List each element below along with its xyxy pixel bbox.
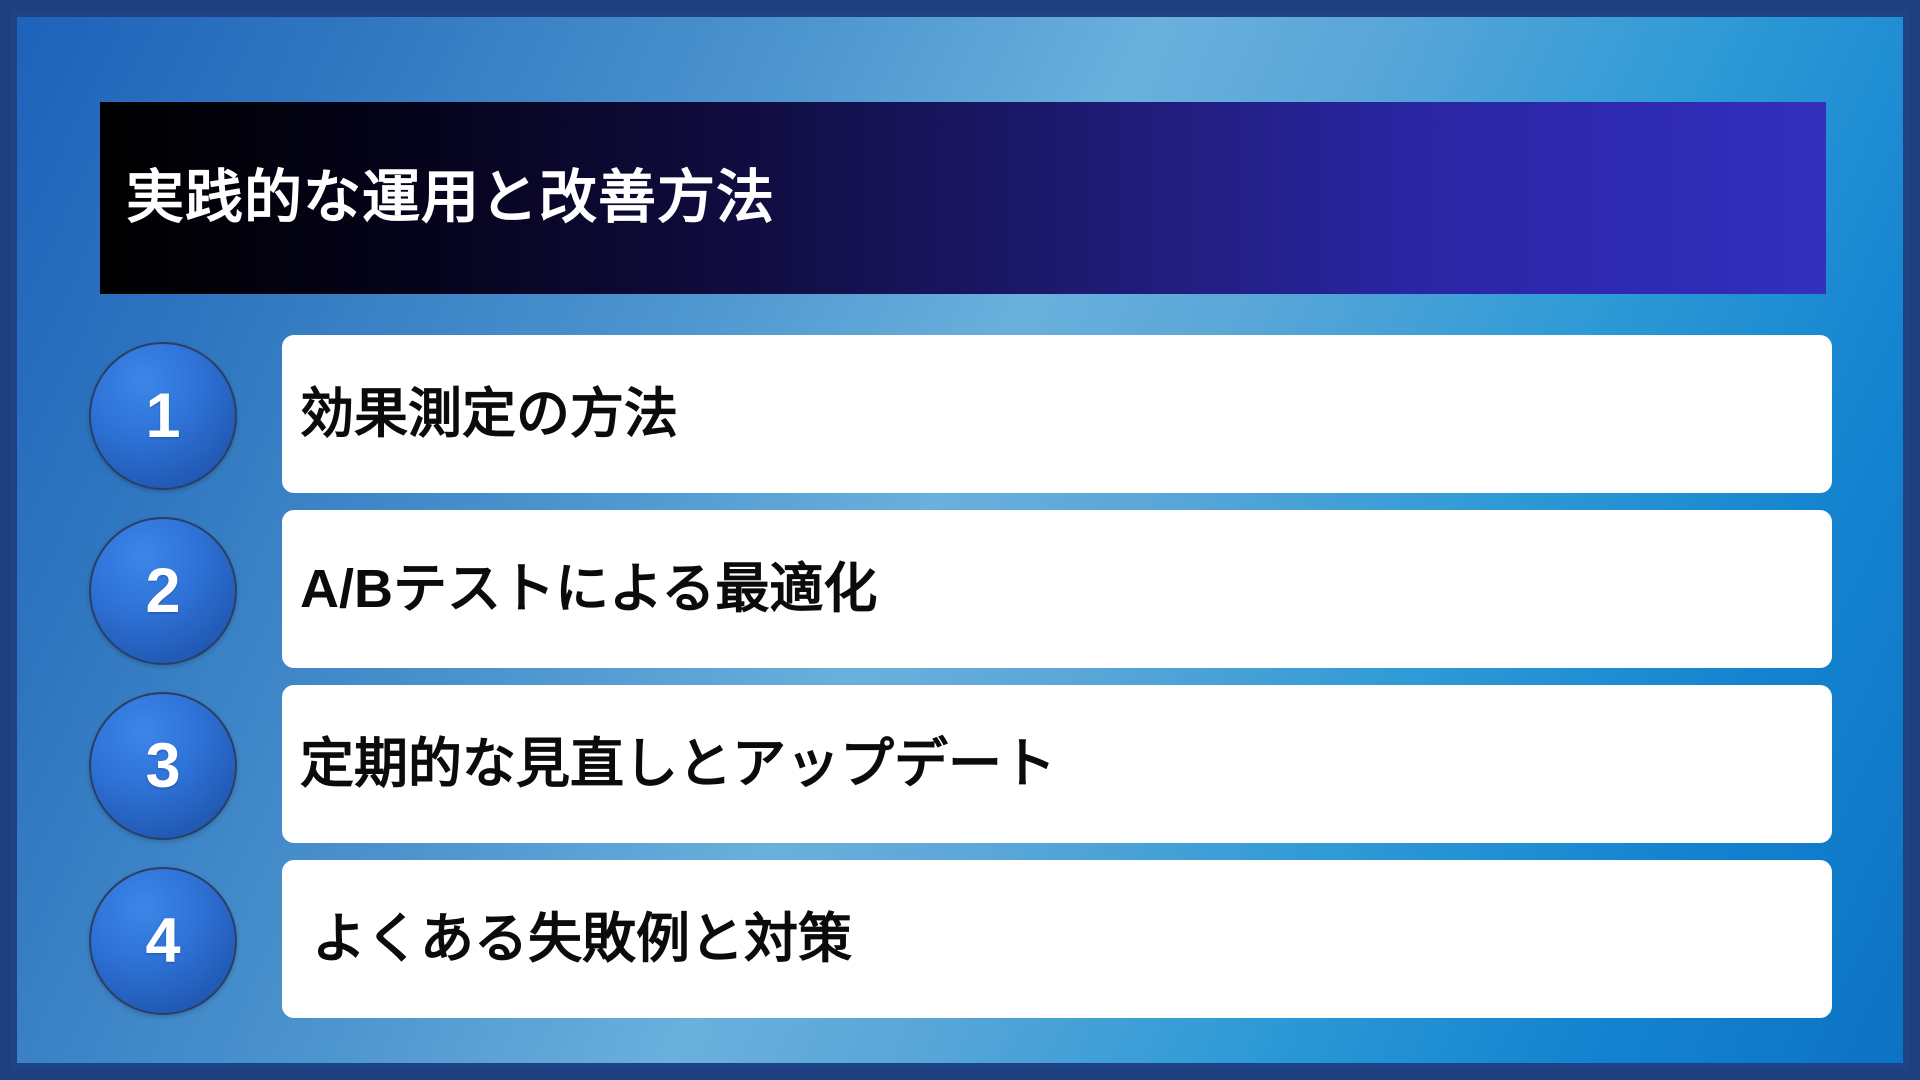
item-card[interactable]: よくある失敗例と対策: [282, 860, 1832, 1018]
item-number-badge: 2: [89, 517, 237, 665]
item-card-label: よくある失敗例と対策: [282, 908, 852, 970]
item-number-badge: 3: [89, 692, 237, 840]
page-title: 実践的な運用と改善方法: [100, 166, 775, 230]
item-card-label: 効果測定の方法: [282, 383, 678, 445]
list-item[interactable]: 1 効果測定の方法: [17, 335, 1910, 508]
item-number-label: 3: [145, 735, 180, 798]
item-card-label: 定期的な見直しとアップデート: [282, 733, 1056, 795]
item-card[interactable]: 効果測定の方法: [282, 335, 1832, 493]
list-item[interactable]: 2 A/Bテストによる最適化: [17, 510, 1910, 683]
slide-title-bar: 実践的な運用と改善方法: [100, 102, 1826, 294]
list-item[interactable]: 3 定期的な見直しとアップデート: [17, 685, 1910, 858]
slide-root: 実践的な運用と改善方法 1 効果測定の方法 2 A/Bテストによる最適化: [0, 0, 1920, 1080]
item-number-badge: 4: [89, 867, 237, 1015]
slide-frame: 実践的な運用と改善方法 1 効果測定の方法 2 A/Bテストによる最適化: [10, 10, 1910, 1070]
item-number-badge: 1: [89, 342, 237, 490]
item-card[interactable]: 定期的な見直しとアップデート: [282, 685, 1832, 843]
item-card-label: A/Bテストによる最適化: [282, 558, 877, 620]
item-card[interactable]: A/Bテストによる最適化: [282, 510, 1832, 668]
item-number-label: 1: [145, 385, 180, 448]
numbered-item-list: 1 効果測定の方法 2 A/Bテストによる最適化 3 定期的: [17, 335, 1910, 1035]
list-item[interactable]: 4 よくある失敗例と対策: [17, 860, 1910, 1033]
item-number-label: 2: [145, 560, 180, 623]
item-number-label: 4: [145, 910, 180, 973]
